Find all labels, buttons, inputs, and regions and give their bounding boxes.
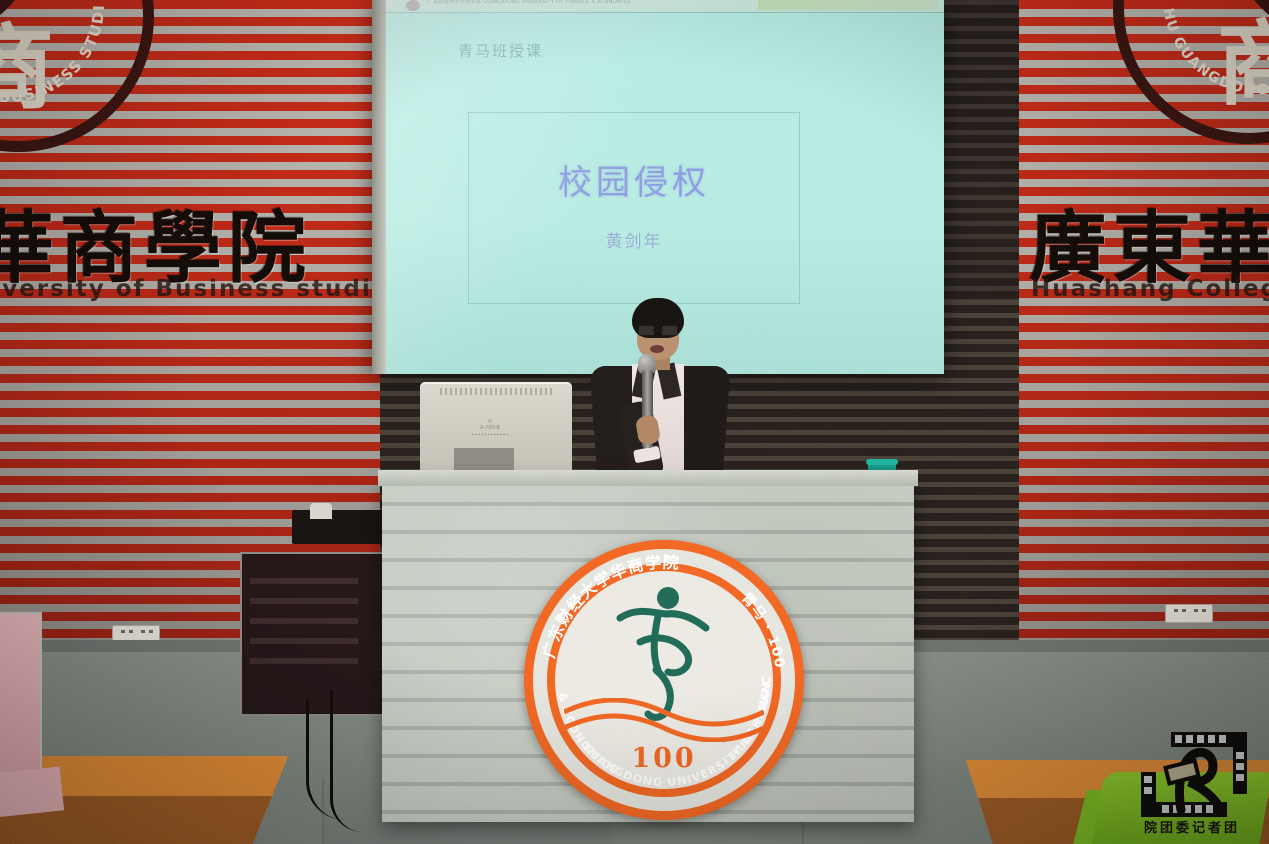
- wall-outlet-left[interactable]: [112, 625, 160, 640]
- photographer-watermark: 院团委记者团: [1129, 726, 1255, 836]
- av-knob[interactable]: [310, 503, 332, 519]
- banner-seal-arc-right: HU GUANGDONG UNIVERSIT: [1135, 0, 1269, 122]
- podium-emblem: 广东财经大学华商学院 青马 · 100 & ECONOMICS GUANGDON…: [524, 540, 804, 820]
- emblem-top-arc-right: 青马 · 100: [738, 589, 788, 669]
- banner-seal-arc-left-text: COLLEGE OF BUSINESS STUDIES: [0, 0, 108, 106]
- photo-scene: 商 COLLEGE OF BUSINESS STUDIES 華商學院 ...ve…: [0, 0, 1269, 844]
- wall-outlet-right[interactable]: [1165, 604, 1213, 623]
- eyeglasses-icon: [638, 325, 678, 334]
- floor-cable: [330, 690, 363, 832]
- banner-left-english: ...versity of Business studies: [0, 276, 380, 302]
- emblem-center-number: 100: [524, 743, 804, 774]
- banner-right-english: Huashang College Guangdo: [1031, 276, 1269, 302]
- svg-text:HU GUANGDONG UNIVERSIT: HU GUANGDONG UNIVERSIT: [1160, 7, 1269, 98]
- banner-seal-arc-right-text: HU GUANGDONG UNIVERSIT: [1160, 7, 1269, 98]
- pink-paper-left: [0, 766, 64, 817]
- mouth: [650, 345, 664, 353]
- svg-text:青马 · 100: 青马 · 100: [738, 589, 788, 669]
- podium-top-edge: [378, 470, 918, 486]
- teal-cup-lid: [866, 459, 898, 465]
- banner-seal-arc-left: COLLEGE OF BUSINESS STUDIES: [0, 0, 132, 130]
- av-equipment-rack: [240, 552, 392, 716]
- speaker-person: [588, 298, 728, 493]
- svg-text:COLLEGE OF BUSINESS STUDIES: COLLEGE OF BUSINESS STUDIES: [0, 0, 108, 106]
- pink-board-left: [0, 612, 42, 786]
- monitor-vent: [440, 388, 552, 395]
- crt-monitor: ◎A-700-B∙∙∙∙∙∙∙∙∙∙∙∙: [420, 382, 572, 474]
- wall-banner-left: 商 COLLEGE OF BUSINESS STUDIES 華商學院 ...ve…: [0, 0, 380, 640]
- monitor-label: ◎A-700-B∙∙∙∙∙∙∙∙∙∙∙∙: [454, 418, 526, 444]
- wall-banner-right: 商 HU GUANGDONG UNIVERSIT 廣東華學 Huashang C…: [1019, 0, 1269, 640]
- watermark-text: 院团委记者团: [1129, 817, 1255, 836]
- emblem-waves-icon: [564, 698, 764, 742]
- screen-frame: [372, 0, 386, 374]
- monitor-cable-bay: [454, 448, 514, 470]
